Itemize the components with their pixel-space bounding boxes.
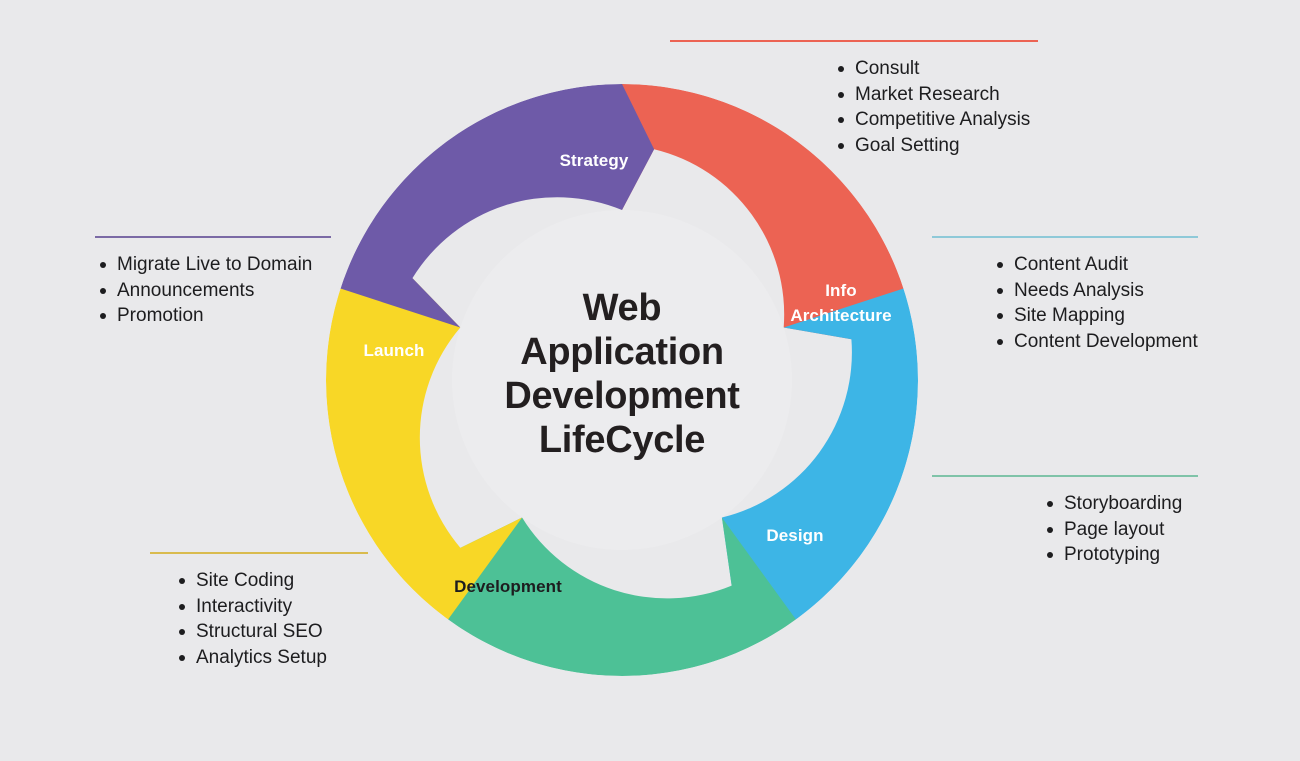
center-title-line-3: Development [472,374,772,418]
note-strategy-list: Consult Market Research Competitive Anal… [833,56,1040,158]
center-title-line-2: Application [472,330,772,374]
note-launch: Migrate Live to Domain Announcements Pro… [95,236,395,329]
note-strategy-rule [670,40,1038,42]
note-launch-rule [95,236,331,238]
note-development-rule [150,552,368,554]
note-info-architecture-list: Content Audit Needs Analysis Site Mappin… [992,252,1232,354]
note-development: Site Coding Interactivity Structural SEO… [150,552,480,670]
center-title: Web Application Development LifeCycle [472,286,772,462]
diagram-canvas: Strategy InfoArchitecture Design Develop… [0,0,1300,761]
list-item: Announcements [95,278,395,304]
center-title-line-4: LifeCycle [472,418,772,462]
note-launch-list: Migrate Live to Domain Announcements Pro… [95,252,395,329]
note-development-list: Site Coding Interactivity Structural SEO… [174,568,480,670]
note-design-list: Storyboarding Page layout Prototyping [1042,491,1232,568]
note-design: Storyboarding Page layout Prototyping [932,475,1232,568]
note-info-architecture-rule [932,236,1198,238]
list-item: Migrate Live to Domain [95,252,395,278]
list-item: Site Mapping [992,303,1232,329]
list-item: Content Development [992,329,1232,355]
list-item: Content Audit [992,252,1232,278]
list-item: Competitive Analysis [833,107,1040,133]
list-item: Needs Analysis [992,278,1232,304]
list-item: Consult [833,56,1040,82]
list-item: Storyboarding [1042,491,1232,517]
list-item: Interactivity [174,594,480,620]
list-item: Page layout [1042,517,1232,543]
list-item: Promotion [95,303,395,329]
list-item: Structural SEO [174,619,480,645]
center-title-line-1: Web [472,286,772,330]
list-item: Analytics Setup [174,645,480,671]
note-design-rule [932,475,1198,477]
note-info-architecture: Content Audit Needs Analysis Site Mappin… [932,236,1232,354]
list-item: Market Research [833,82,1040,108]
list-item: Goal Setting [833,133,1040,159]
list-item: Prototyping [1042,542,1232,568]
note-strategy: Consult Market Research Competitive Anal… [670,40,1040,158]
list-item: Site Coding [174,568,480,594]
